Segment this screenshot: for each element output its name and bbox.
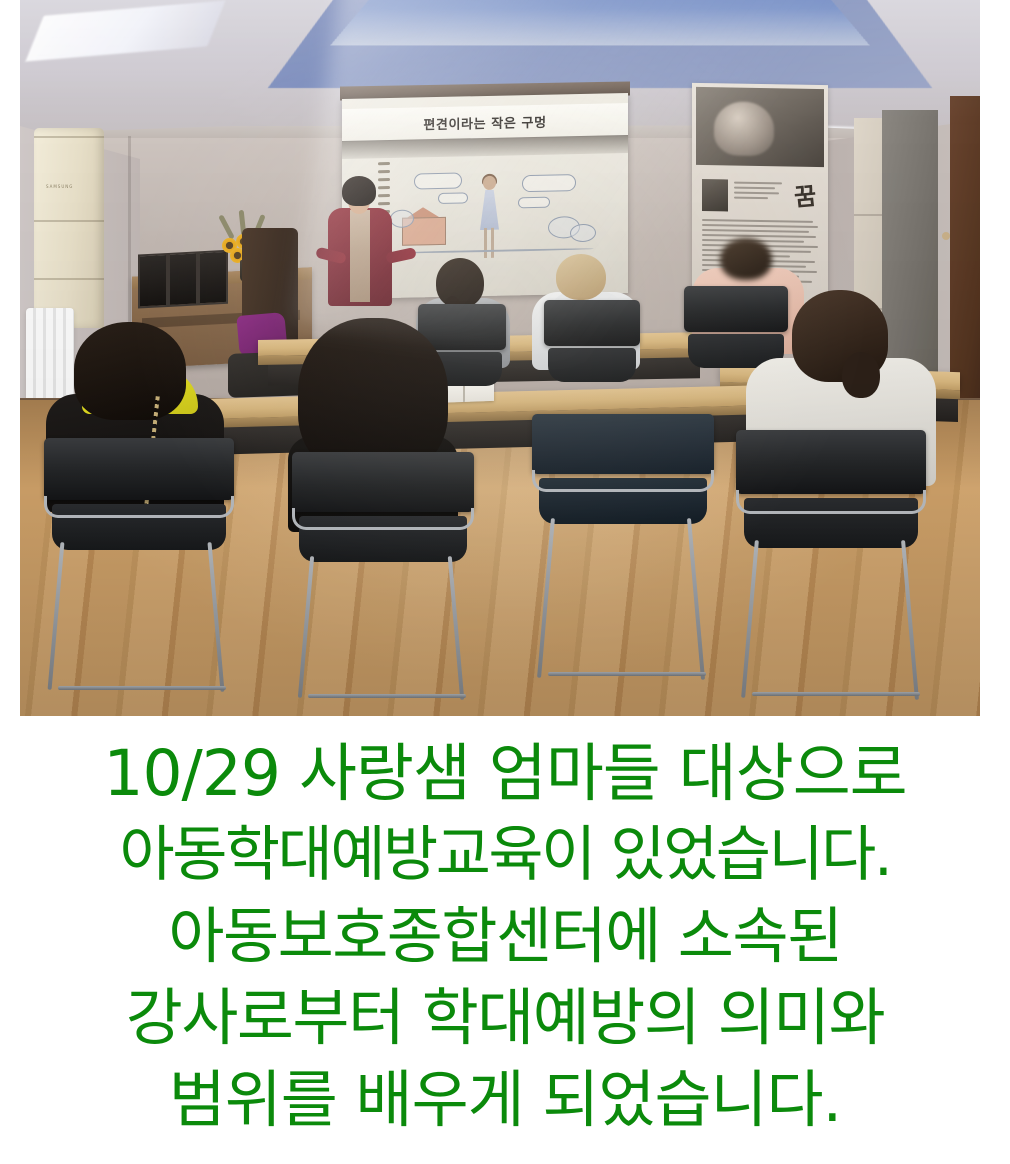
aircon-brand-label: SAMSUNG bbox=[46, 184, 73, 189]
classroom-scene: 편견이라는 작은 구멍 bbox=[20, 0, 980, 716]
chair-runner bbox=[752, 692, 920, 696]
door-knob bbox=[942, 232, 950, 240]
attendee-cream-ponytail bbox=[842, 352, 880, 398]
cloud-icon-2 bbox=[438, 192, 468, 204]
cloud-icon-4 bbox=[518, 197, 550, 209]
caption-line-4: 강사로부터 학대예방의 의미와 bbox=[0, 977, 1010, 1059]
attendee-yellow-hair bbox=[74, 322, 186, 420]
caption-line-1: 10/29 사랑샘 엄마들 대상으로 bbox=[0, 732, 1010, 816]
bush-icon-3 bbox=[570, 224, 596, 243]
girl-leg-left bbox=[484, 228, 487, 258]
picture-frame-1 bbox=[138, 253, 168, 309]
slide-title: 편견이라는 작은 구멍 bbox=[423, 111, 546, 133]
leaf-1 bbox=[218, 214, 235, 239]
poster-photo bbox=[696, 87, 824, 167]
picture-frame-2 bbox=[168, 251, 198, 307]
attendee-white-hair bbox=[556, 254, 606, 300]
cloud-icon-3 bbox=[522, 174, 576, 192]
lecture-photograph: 편견이라는 작은 구멍 bbox=[20, 0, 980, 716]
caption-block: 10/29 사랑샘 엄마들 대상으로 아동학대예방교육이 있었습니다. 아동보호… bbox=[0, 716, 1010, 1164]
girl-leg-right bbox=[491, 228, 494, 258]
chair-runner bbox=[58, 686, 226, 690]
attendee-grey-hair bbox=[436, 258, 484, 308]
caption-line-3: 아동보호종합센터에 소속된 bbox=[0, 896, 1010, 977]
attendee-pink-hair-blurred bbox=[720, 238, 772, 280]
poster-calligraphy: 꿈 bbox=[792, 176, 818, 213]
poster-subtitle-lines bbox=[734, 182, 782, 203]
chair-runner bbox=[548, 672, 706, 676]
cloud-icon-1 bbox=[414, 172, 462, 189]
girl-figure-icon bbox=[478, 176, 500, 260]
ceiling-tray-inner bbox=[330, 0, 869, 45]
girl-head bbox=[483, 176, 496, 190]
instructor-scarf bbox=[350, 210, 370, 302]
caption-line-2: 아동학대예방교육이 있었습니다. bbox=[0, 816, 1010, 896]
poster-portrait-photo bbox=[702, 179, 728, 211]
caption-line-5: 범위를 배우게 되었습니다. bbox=[0, 1059, 1010, 1141]
chair-runner bbox=[308, 694, 466, 698]
instructor-hair bbox=[342, 176, 376, 206]
girl-dress bbox=[480, 190, 499, 230]
air-conditioner: SAMSUNG bbox=[34, 128, 104, 328]
